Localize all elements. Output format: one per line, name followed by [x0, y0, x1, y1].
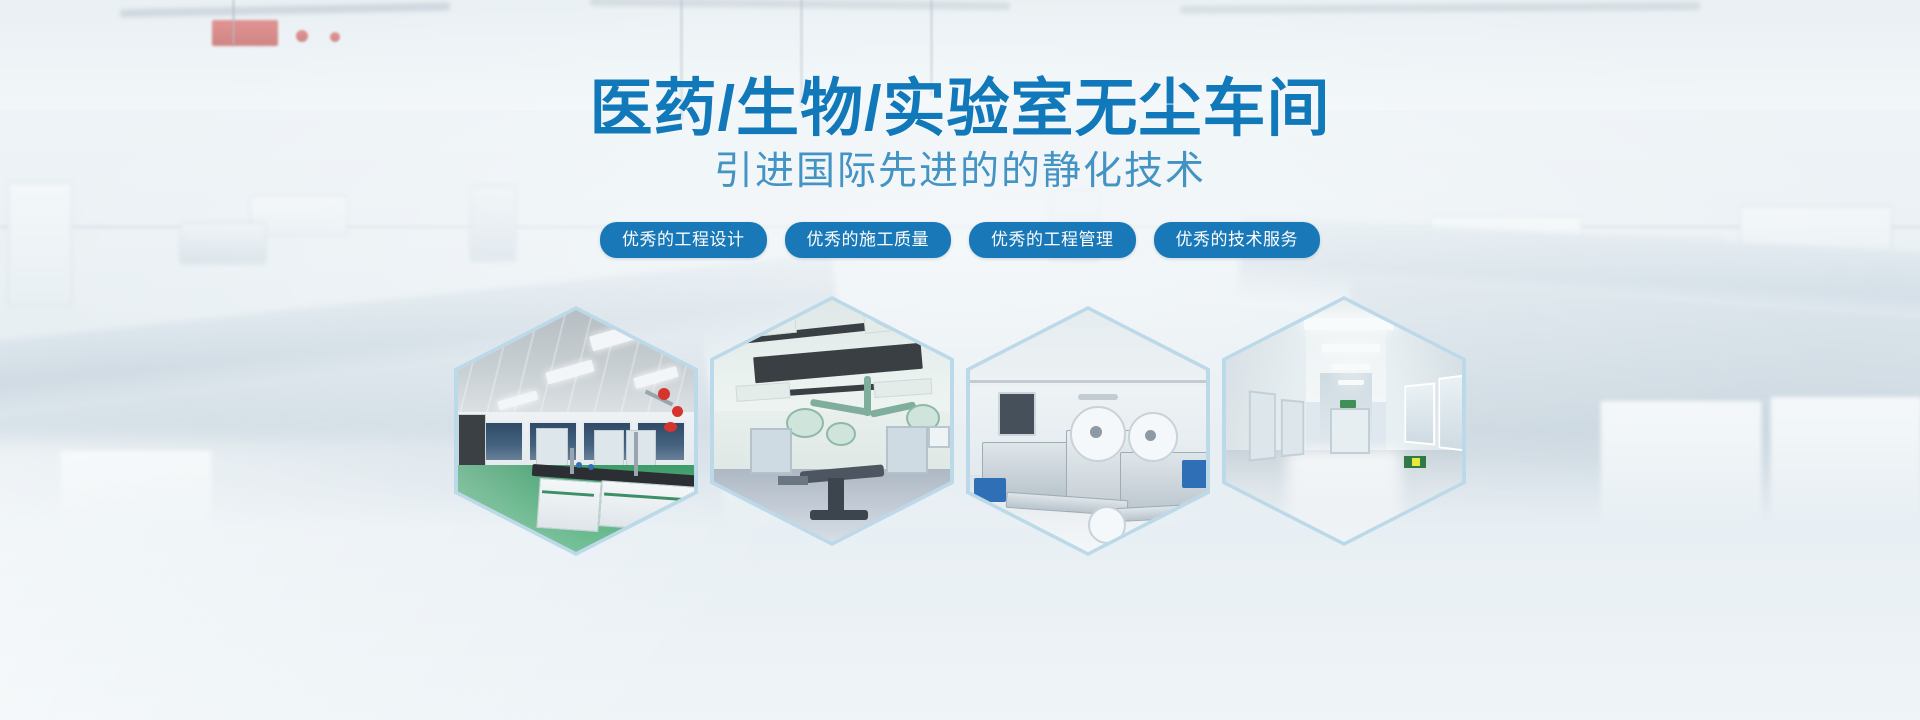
page-title: 医药/生物/实验室无尘车间 — [0, 78, 1920, 141]
laboratory-scene — [458, 310, 694, 552]
hexagon-clip — [458, 310, 694, 552]
hexagon-clip — [714, 300, 950, 542]
hexagon-clip — [1226, 300, 1462, 542]
hexagon-clip — [970, 310, 1206, 552]
corridor-scene — [1226, 300, 1462, 542]
hexagon-image-operating-theatre[interactable] — [710, 296, 954, 546]
feature-badge-list: 优秀的工程设计 优秀的施工质量 优秀的工程管理 优秀的技术服务 — [0, 222, 1920, 258]
production-room-scene — [970, 310, 1206, 552]
hexagon-gallery — [0, 296, 1920, 556]
hexagon-image-corridor[interactable] — [1222, 296, 1466, 546]
hexagon-image-production-room[interactable] — [966, 306, 1210, 556]
feature-badge-technical-service[interactable]: 优秀的技术服务 — [1154, 222, 1321, 258]
operating-theatre-scene — [714, 300, 950, 542]
feature-badge-project-management[interactable]: 优秀的工程管理 — [969, 222, 1136, 258]
hero-banner: 医药/生物/实验室无尘车间 引进国际先进的的静化技术 优秀的工程设计 优秀的施工… — [0, 0, 1920, 720]
hexagon-image-laboratory[interactable] — [454, 306, 698, 556]
feature-badge-engineering-design[interactable]: 优秀的工程设计 — [600, 222, 767, 258]
page-subtitle: 引进国际先进的的静化技术 — [0, 152, 1920, 191]
feature-badge-construction-quality[interactable]: 优秀的施工质量 — [785, 222, 952, 258]
